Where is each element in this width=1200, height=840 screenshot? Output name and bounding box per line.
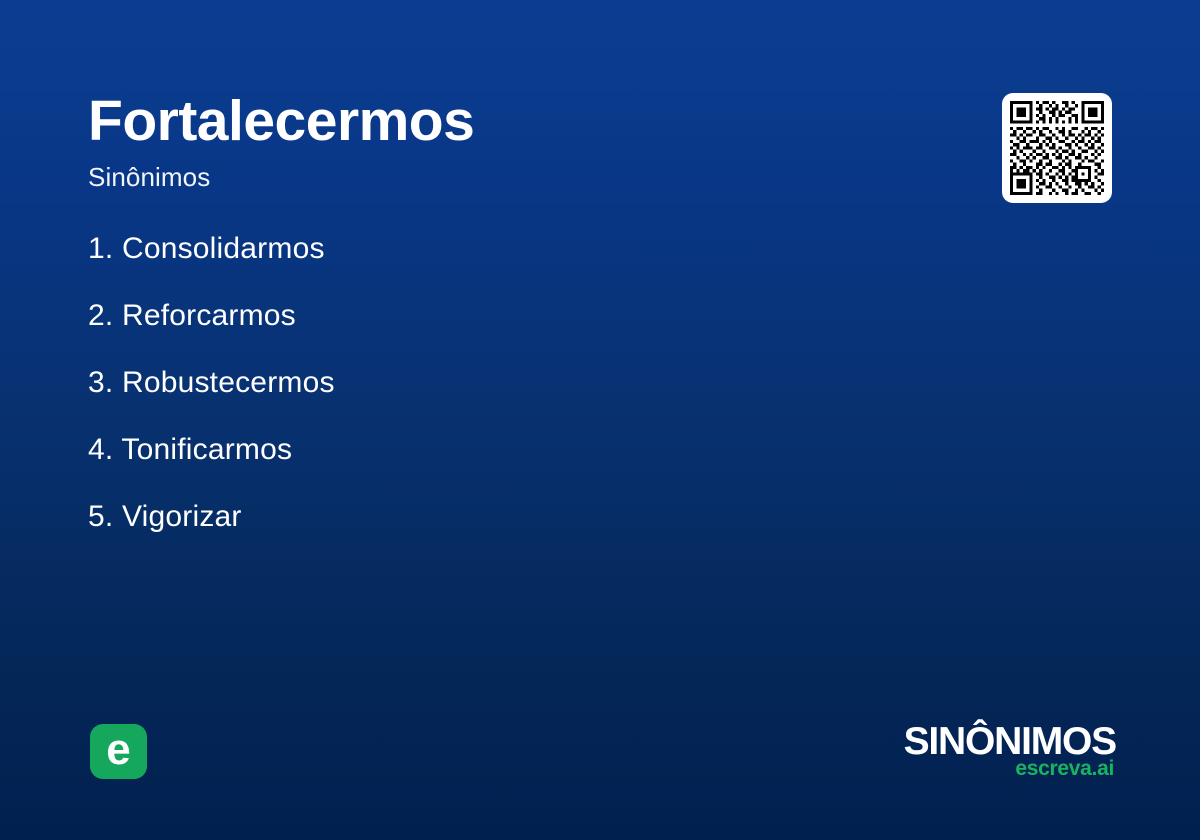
list-item-label: Reforcarmos bbox=[122, 299, 296, 332]
list-item-index: 2. bbox=[88, 299, 113, 332]
list-item: 5. Vigorizar bbox=[88, 502, 788, 532]
brand-lockup: SINÔNIMOS escreva.ai bbox=[904, 722, 1116, 779]
list-item-label: Consolidarmos bbox=[122, 232, 325, 265]
page-subtitle: Sinônimos bbox=[88, 162, 908, 193]
list-item: 2. Reforcarmos bbox=[88, 301, 788, 331]
qr-code-card[interactable] bbox=[1002, 93, 1112, 203]
synonym-list: 1. Consolidarmos 2. Reforcarmos 3. Robus… bbox=[88, 234, 788, 569]
page-title: Fortalecermos bbox=[88, 92, 908, 150]
list-item: 3. Robustecermos bbox=[88, 368, 788, 398]
escreva-logo-badge: e bbox=[90, 724, 147, 779]
list-item-label: Tonificarmos bbox=[121, 433, 292, 466]
list-item: 4. Tonificarmos bbox=[88, 435, 788, 465]
list-item-index: 1. bbox=[88, 232, 113, 265]
list-item-index: 3. bbox=[88, 366, 113, 399]
escreva-logo-letter: e bbox=[106, 728, 130, 772]
list-item-label: Vigorizar bbox=[122, 500, 242, 533]
brand-name: SINÔNIMOS bbox=[904, 722, 1116, 761]
synonym-card: Fortalecermos Sinônimos bbox=[0, 0, 1200, 840]
list-item-index: 4. bbox=[88, 433, 113, 466]
list-item-label: Robustecermos bbox=[122, 366, 335, 399]
qr-code-icon bbox=[1010, 101, 1104, 195]
header: Fortalecermos Sinônimos bbox=[88, 92, 908, 193]
list-item-index: 5. bbox=[88, 500, 113, 533]
list-item: 1. Consolidarmos bbox=[88, 234, 788, 264]
